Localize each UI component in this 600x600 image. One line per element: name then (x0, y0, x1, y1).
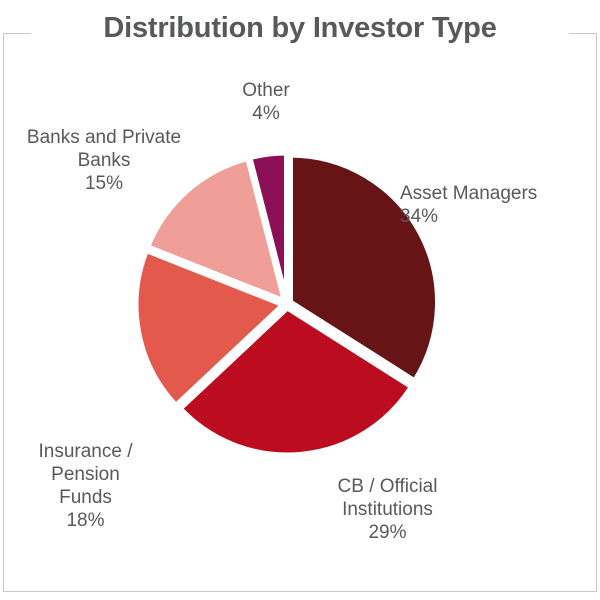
slice-label-banks-and-private-banks: Banks and Private Banks 15% (4, 126, 204, 195)
slice-label-insurance-pension-funds: Insurance / Pension Funds 18% (8, 440, 163, 532)
slice-label-other: Other 4% (196, 79, 336, 125)
chart-page: Distribution by Investor Type Other 4% A… (0, 0, 600, 600)
slice-label-asset-managers: Asset Managers 34% (400, 182, 590, 228)
slice-label-cb-official-institutions: CB / Official Institutions 29% (295, 475, 480, 544)
